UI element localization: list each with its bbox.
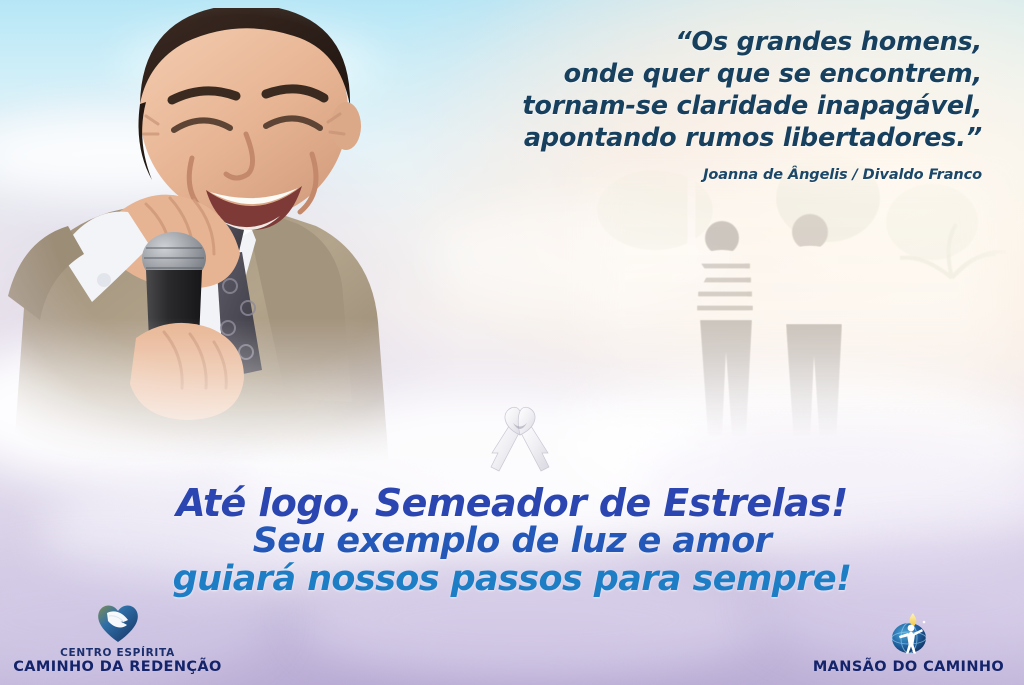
headline-line-2: Seu exemplo de luz e amor <box>0 522 1024 560</box>
quote-line-4: apontando rumos libertadores.” <box>422 122 982 154</box>
globe-figure-logo-icon <box>887 613 931 655</box>
cloud-wisp <box>0 110 260 200</box>
logo-right-line-1: MANSÃO DO CAMINHO <box>801 659 1016 676</box>
quote-attribution: Joanna de Ângelis / Divaldo Franco <box>422 167 982 183</box>
logo-centro-espirita: CENTRO ESPÍRITA CAMINHO DA REDENÇÃO <box>10 603 225 676</box>
cloud-wisp <box>430 200 730 310</box>
cloud-wisp <box>120 30 380 100</box>
background-photo <box>560 150 1024 450</box>
quote-line-1: “Os grandes homens, <box>422 26 982 58</box>
quote-block: “Os grandes homens, onde quer que se enc… <box>422 26 982 183</box>
logo-left-line-2: CAMINHO DA REDENÇÃO <box>10 659 225 676</box>
logo-left-line-1: CENTRO ESPÍRITA <box>10 647 225 659</box>
headline-block: Até logo, Semeador de Estrelas! Seu exem… <box>0 484 1024 598</box>
quote-line-2: onde quer que se encontrem, <box>422 58 982 90</box>
cloud-wisp <box>0 330 360 490</box>
heart-hand-logo-icon <box>95 603 141 643</box>
portrait-photo <box>0 8 464 478</box>
logo-mansao-do-caminho: MANSÃO DO CAMINHO <box>801 613 1016 676</box>
headline-line-3: guiará nossos passos para sempre! <box>0 560 1024 598</box>
memorial-poster: “Os grandes homens, onde quer que se enc… <box>0 0 1024 685</box>
headline-line-1: Até logo, Semeador de Estrelas! <box>0 484 1024 522</box>
white-mourning-ribbon-icon <box>489 405 551 477</box>
quote-line-3: tornam-se claridade inapagável, <box>422 90 982 122</box>
